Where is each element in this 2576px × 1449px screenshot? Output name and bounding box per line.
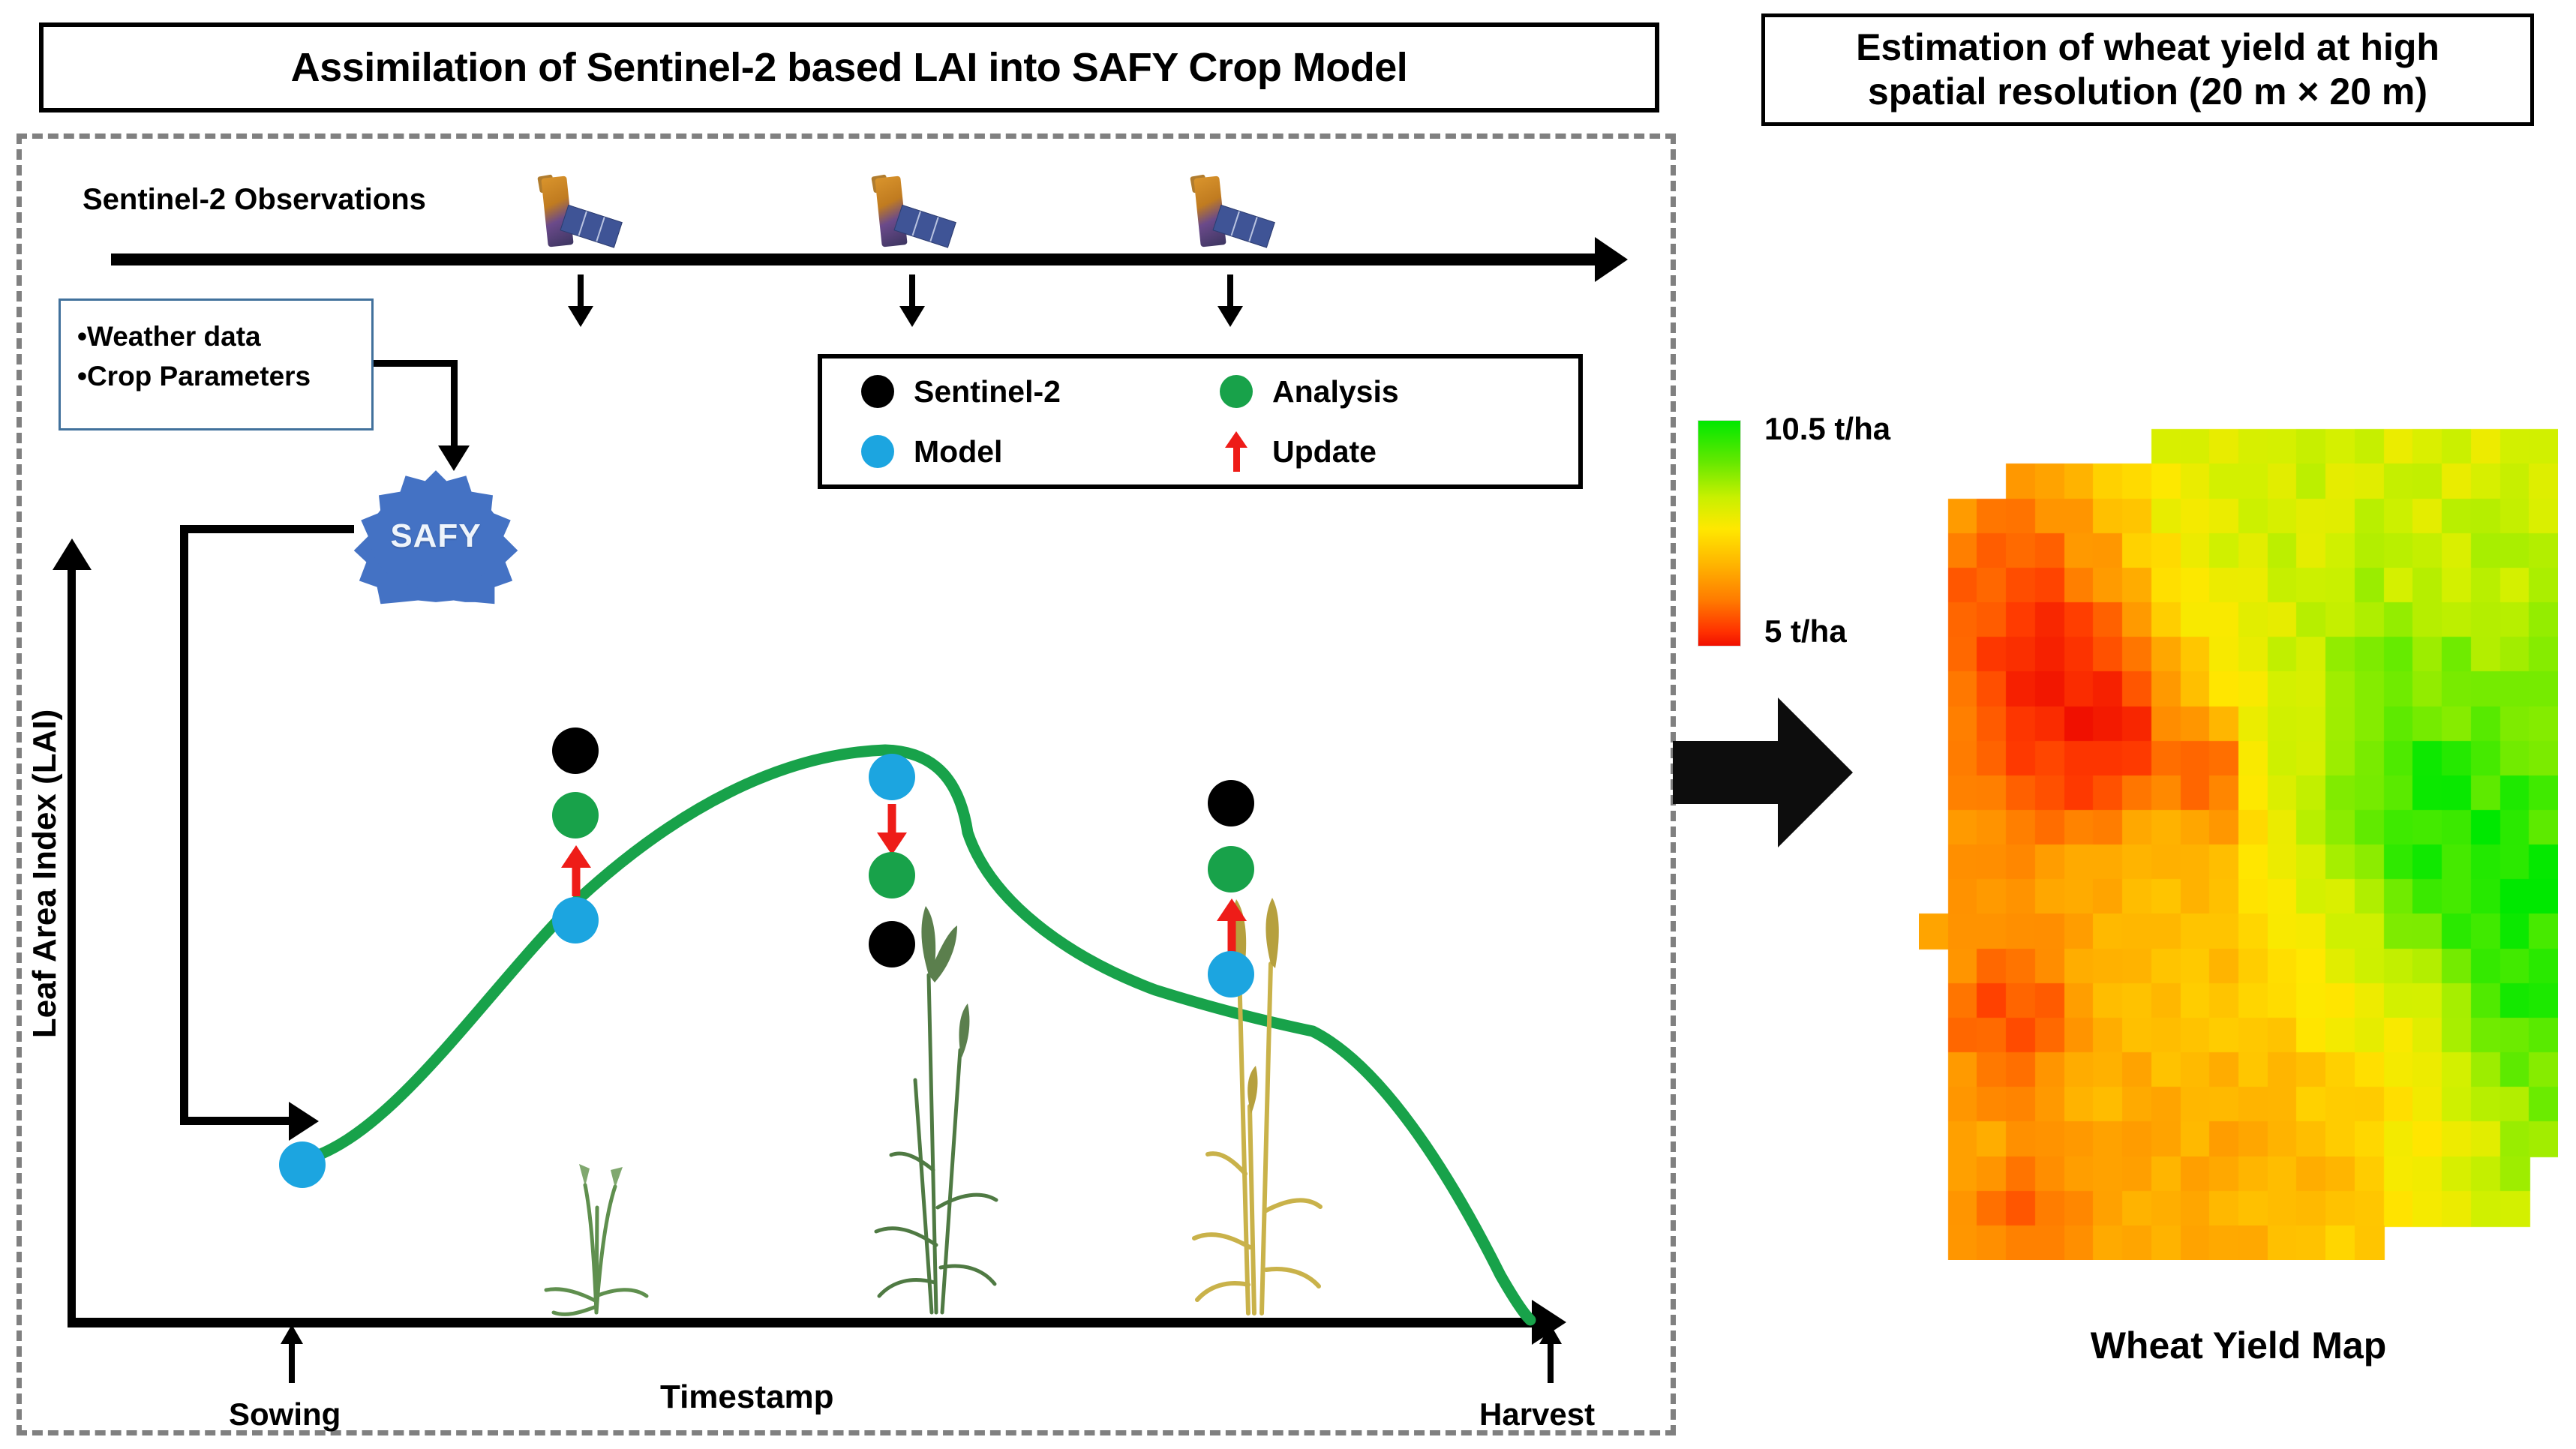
colorbar-min-label: 5 t/ha	[1764, 613, 1847, 649]
safy-feedback-arrowhead	[289, 1102, 319, 1141]
analysis-dot-icon	[1220, 375, 1253, 408]
wheat-plant-ripening-icon	[1170, 889, 1343, 1320]
transition-arrow-icon	[1673, 697, 1853, 847]
model-point	[1208, 951, 1254, 997]
legend-item-model: Model	[861, 434, 1220, 469]
input-item-crop-parameters: •Crop Parameters	[77, 357, 359, 397]
satellite-icon	[859, 174, 941, 256]
satellite-icon	[1178, 174, 1260, 256]
safy-model-label: SAFY	[341, 465, 530, 607]
model-inputs-box: •Weather data •Crop Parameters	[59, 298, 374, 430]
sentinel-2-observation-point	[1208, 780, 1254, 826]
update-arrow-shaft	[1233, 443, 1240, 472]
sentinel-2-observation-point	[869, 921, 915, 967]
sentinel-2-dot-icon	[861, 375, 894, 408]
model-point	[869, 754, 915, 800]
model-dot-icon	[861, 435, 894, 468]
x-tick-label-sowing: Sowing	[229, 1396, 341, 1432]
safy-model-gear: SAFY	[341, 465, 530, 607]
legend-label-analysis: Analysis	[1272, 374, 1399, 409]
legend-label-update: Update	[1272, 434, 1377, 469]
safy-feedback-connector-vertical	[180, 525, 188, 1125]
right-title-line2: spatial resolution (20 m × 20 m)	[1868, 70, 2427, 114]
harvest-tick-marker	[1548, 1342, 1554, 1383]
wheat-plant-seedling-icon	[525, 1012, 668, 1320]
legend-label-model: Model	[914, 434, 1002, 469]
safy-feedback-connector-bottom	[180, 1117, 289, 1125]
right-title-line1: Estimation of wheat yield at high	[1856, 25, 2439, 70]
safy-feedback-connector-top	[180, 525, 354, 533]
observation-timeline-axis	[111, 253, 1604, 265]
wheat-yield-raster-map	[1919, 360, 2558, 1260]
inputs-to-model-connector-horizontal	[374, 360, 458, 367]
colorbar-max-label: 10.5 t/ha	[1764, 411, 1890, 447]
update-arrow-down	[877, 804, 907, 855]
update-arrow-shaft	[1228, 915, 1236, 952]
x-tick-label-harvest: Harvest	[1479, 1396, 1595, 1432]
y-axis-line	[68, 567, 76, 1324]
legend-item-update: Update	[1220, 431, 1578, 472]
legend-item-sentinel-2: Sentinel-2	[861, 374, 1220, 409]
legend-item-analysis: Analysis	[1220, 374, 1578, 409]
y-axis-label: Leaf Area Index (LAI)	[26, 604, 64, 1144]
sentinel-2-observation-point	[552, 727, 599, 774]
satellite-icon	[525, 174, 608, 256]
observation-down-arrow-icon	[909, 274, 915, 307]
analysis-point	[869, 852, 915, 898]
update-arrow-up	[561, 845, 591, 896]
initial-model-point	[279, 1141, 326, 1188]
sowing-tick-marker	[289, 1342, 295, 1383]
y-axis-arrowhead	[53, 538, 92, 570]
observation-down-arrow-icon	[1227, 274, 1233, 307]
legend-label-sentinel-2: Sentinel-2	[914, 374, 1061, 409]
model-point	[552, 897, 599, 943]
yield-colorbar	[1698, 420, 1741, 646]
sentinel-observations-label: Sentinel-2 Observations	[83, 183, 426, 217]
observation-down-arrow-icon	[578, 274, 584, 307]
input-item-weather-data: •Weather data	[77, 317, 359, 357]
right-panel-title: Estimation of wheat yield at high spatia…	[1761, 13, 2534, 126]
update-arrow-up	[1217, 898, 1247, 952]
left-title-text: Assimilation of Sentinel-2 based LAI int…	[291, 44, 1408, 91]
inputs-to-model-connector-vertical	[451, 360, 458, 448]
left-panel-title: Assimilation of Sentinel-2 based LAI int…	[39, 22, 1659, 112]
update-arrow-shaft	[572, 862, 581, 896]
yield-map-caption: Wheat Yield Map	[1919, 1324, 2558, 1367]
update-arrow-icon	[1220, 431, 1253, 472]
analysis-point	[1208, 846, 1254, 892]
analysis-point	[552, 792, 599, 838]
chart-legend: Sentinel-2 Analysis Model Update	[818, 354, 1583, 489]
x-axis-label: Timestamp	[660, 1378, 834, 1416]
observation-timeline-arrowhead	[1595, 237, 1628, 282]
